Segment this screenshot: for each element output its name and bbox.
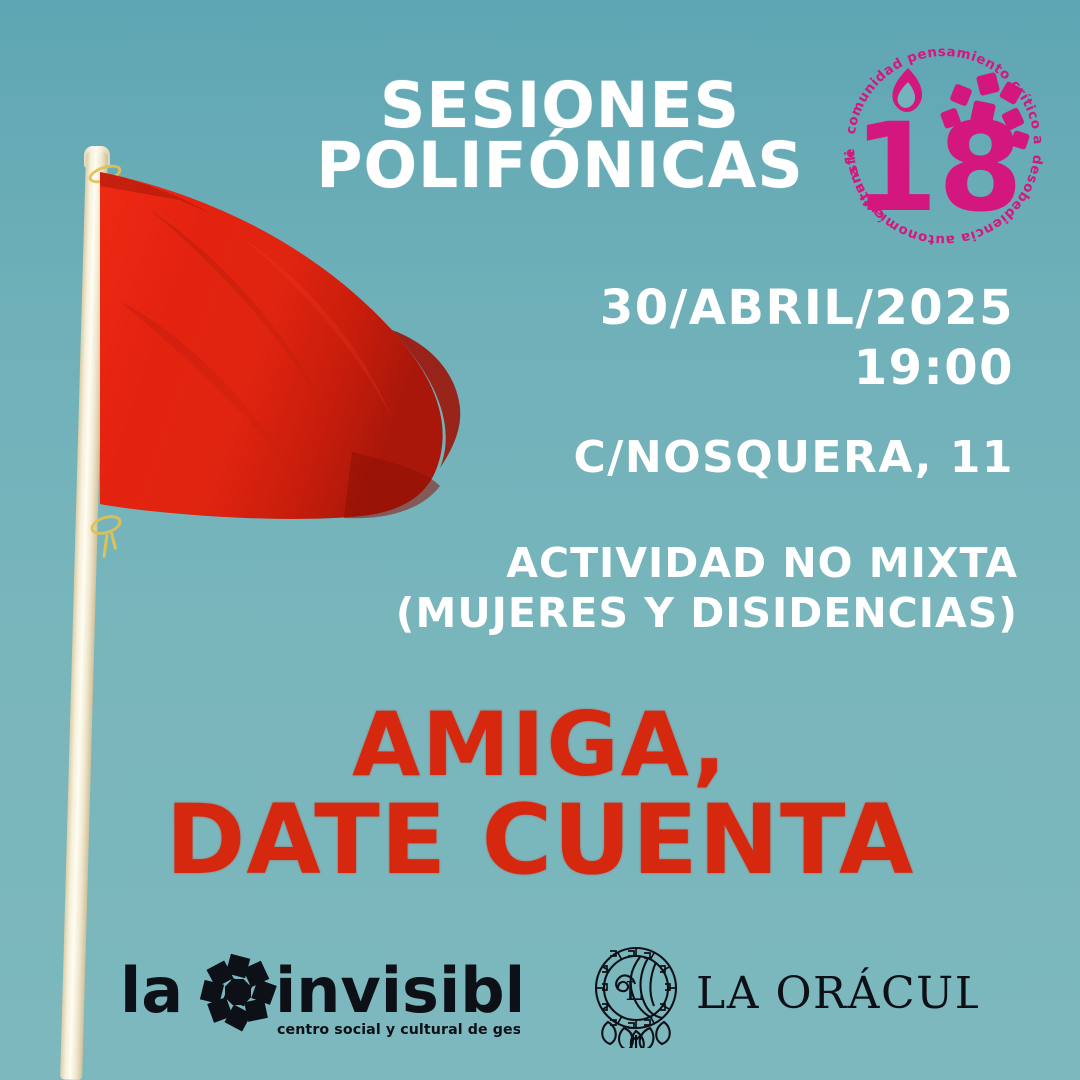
notice-line-2: (MUJERES Y DISIDENCIAS): [358, 588, 1018, 638]
logo-invisible-word: invisible: [275, 954, 520, 1027]
invisible-star-icon: [200, 954, 277, 1032]
logo-la-oracula[interactable]: LA ORÁCULA L: [578, 936, 978, 1048]
headline-line-1: AMIGA,: [0, 700, 1080, 791]
logo-la-invisible[interactable]: la invisible: [120, 936, 520, 1048]
headline: AMIGA, DATE CUENTA: [0, 700, 1080, 890]
title-line-2: POLIFÓNICAS: [300, 136, 820, 196]
event-date: 30/ABRIL/2025: [394, 278, 1014, 338]
anniversary-badge: comunidad pensamiento crítico autogestió…: [826, 28, 1062, 264]
event-notice: ACTIVIDAD NO MIXTA (MUJERES Y DISIDENCIA…: [358, 538, 1018, 638]
event-time: 19:00: [394, 338, 1014, 398]
poster-canvas: SESIONES POLIFÓNICAS comunidad pensamien…: [0, 0, 1080, 1080]
page-title: SESIONES POLIFÓNICAS: [300, 76, 820, 197]
event-address: C/NOSQUERA, 11: [394, 432, 1014, 483]
logo-invisible-la: la: [120, 954, 183, 1027]
badge-number: 18: [853, 97, 1023, 239]
event-date-block: 30/ABRIL/2025 19:00: [394, 278, 1014, 399]
headline-line-2: DATE CUENTA: [0, 791, 1080, 890]
logo-invisible-tagline: centro social y cultural de gestión ciud…: [277, 1022, 520, 1038]
logo-oracula-monogram: L: [625, 977, 642, 1007]
logo-oracula-name: LA ORÁCULA: [696, 966, 978, 1019]
notice-line-1: ACTIVIDAD NO MIXTA: [358, 538, 1018, 588]
